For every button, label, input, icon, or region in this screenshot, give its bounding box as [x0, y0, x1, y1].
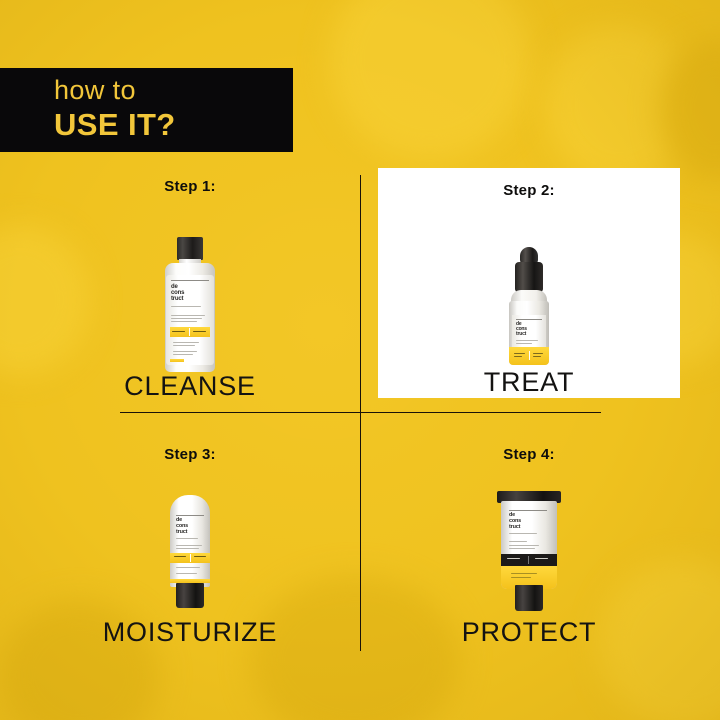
product-serum: de cons truct	[501, 247, 557, 365]
product-slot-3: de cons truct	[30, 463, 350, 617]
infographic-canvas: how to USE IT? Step 1: de cons truct	[0, 0, 720, 720]
moisturizer-tube: de cons truct	[170, 495, 210, 587]
product-slot-1: de cons truct	[30, 195, 350, 371]
product-sunscreen: de cons truct	[494, 491, 564, 611]
moisturizer-brand-line3: truct	[176, 530, 187, 536]
action-label-2: TREAT	[484, 367, 575, 398]
action-label-3: MOISTURIZE	[103, 617, 278, 648]
step-label-4: Step 4:	[503, 446, 554, 463]
serum-body: de cons truct	[509, 301, 549, 365]
background-bokeh-3	[660, 40, 720, 180]
sunscreen-dark-band	[501, 554, 557, 566]
sunscreen-brand-line3: truct	[509, 525, 520, 531]
step-cell-2[interactable]: Step 2: de cons truct	[378, 168, 680, 398]
step-cell-1[interactable]: Step 1: de cons truct	[30, 172, 350, 402]
action-label-1: CLEANSE	[124, 371, 256, 402]
header-banner: how to USE IT?	[0, 68, 293, 152]
background-bokeh-2	[545, 25, 695, 185]
product-moisturizer: de cons truct	[162, 495, 218, 608]
cleanser-accent-band	[170, 327, 210, 337]
moisturizer-cap	[176, 583, 204, 608]
step-label-1: Step 1:	[164, 178, 215, 195]
divider-vertical	[360, 175, 361, 651]
product-slot-2: de cons truct	[378, 199, 680, 367]
header-title-line1: how to	[54, 77, 136, 104]
step-cell-3[interactable]: Step 3: de cons truct	[30, 440, 350, 648]
serum-dropper-collar	[515, 262, 543, 292]
action-label-4: PROTECT	[462, 617, 597, 648]
step-label-3: Step 3:	[164, 446, 215, 463]
cleanser-brand-line3: truct	[171, 296, 183, 302]
product-slot-4: de cons truct	[378, 463, 680, 617]
cleanser-label: de cons truct	[166, 275, 214, 365]
sunscreen-tube: de cons truct	[501, 501, 557, 589]
step-label-2: Step 2:	[503, 182, 554, 199]
serum-brand-line3: truct	[516, 332, 526, 337]
sunscreen-cap	[515, 585, 543, 611]
background-bokeh-1	[330, 0, 530, 160]
step-cell-4[interactable]: Step 4: de cons truct	[378, 440, 680, 648]
product-cleanser: de cons truct	[162, 237, 218, 372]
header-title-line2: USE IT?	[54, 109, 176, 140]
cleanser-cap	[177, 237, 203, 260]
